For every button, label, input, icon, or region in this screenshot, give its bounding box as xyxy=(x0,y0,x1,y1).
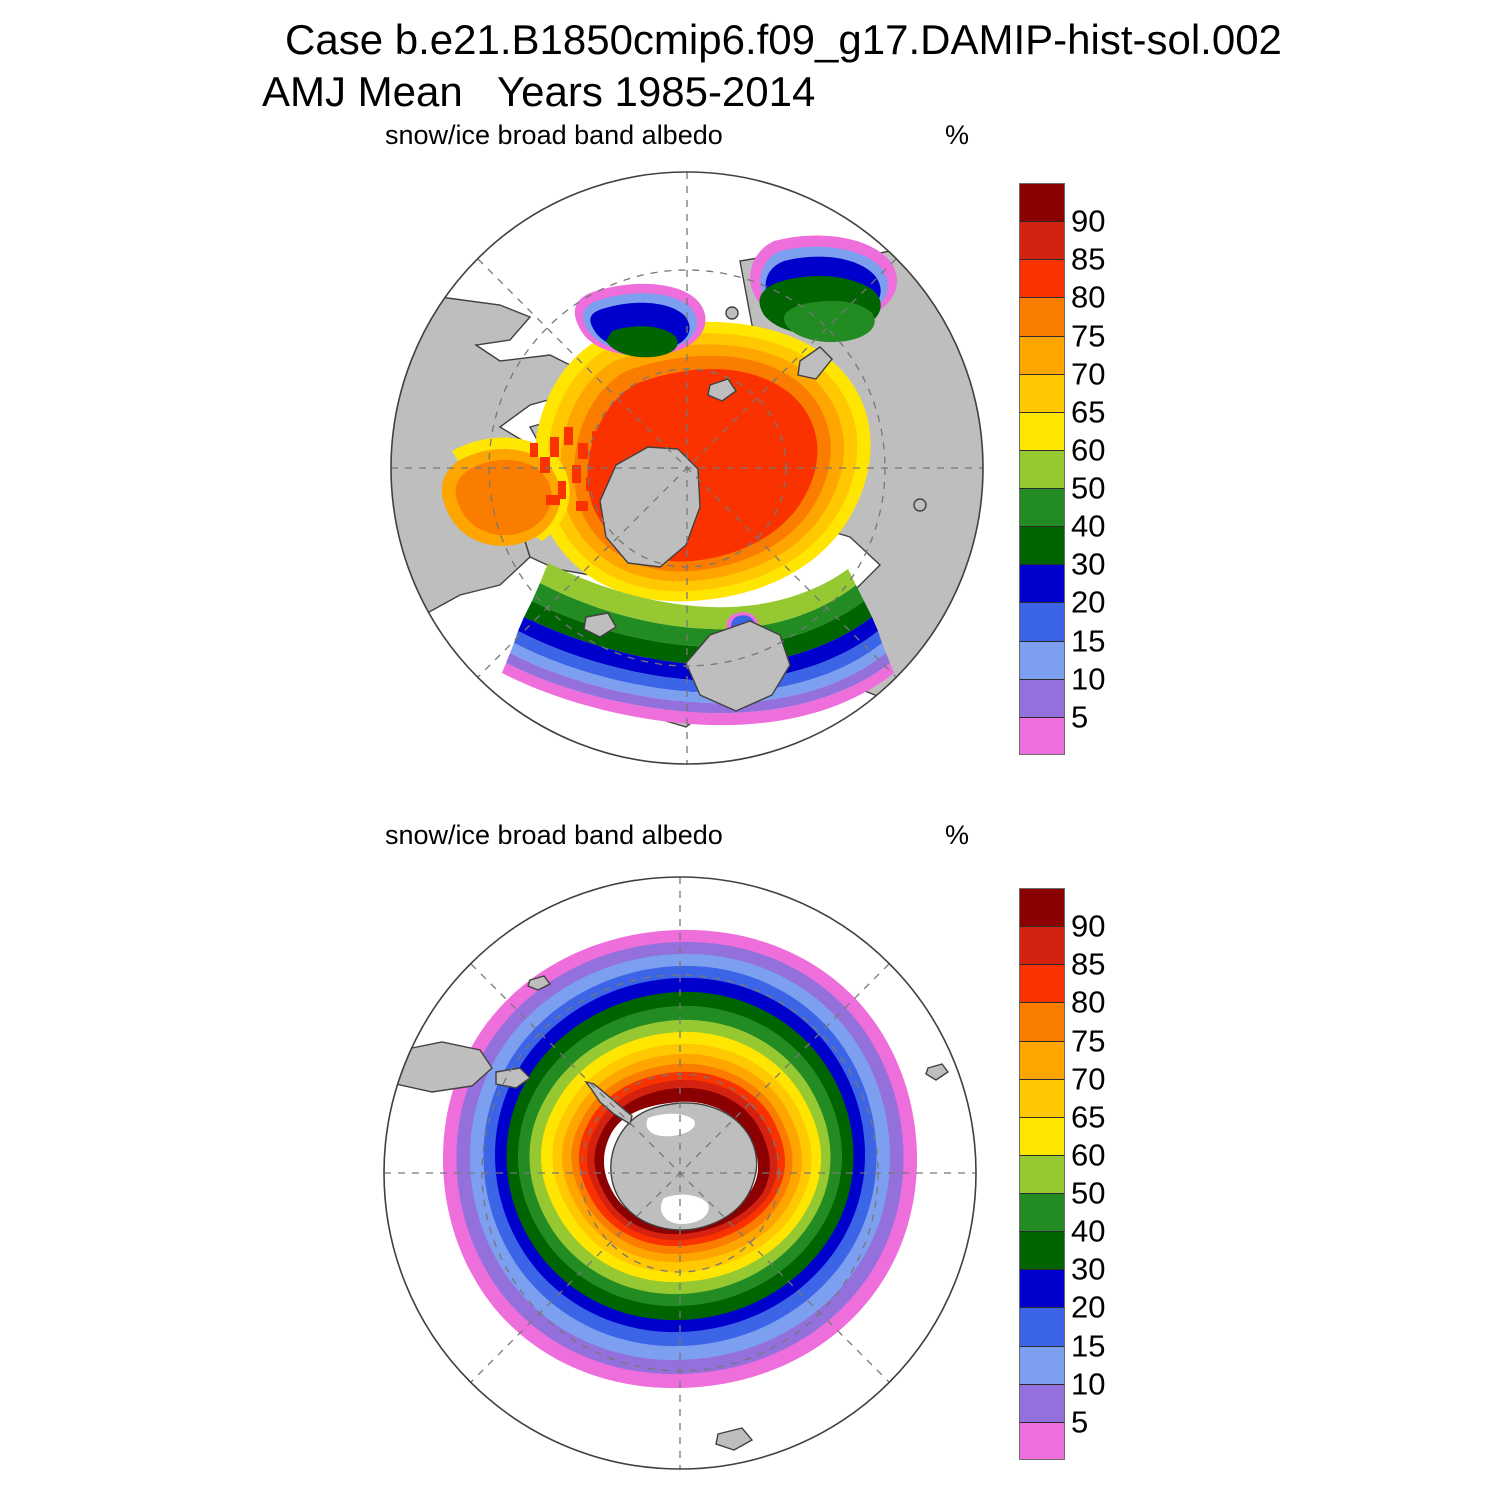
antarctic-variable-label: snow/ice broad band albedo xyxy=(385,818,723,852)
colorbar-band-3 xyxy=(1019,297,1065,335)
colorbar-tick-75: 75 xyxy=(1071,320,1105,351)
colorbar-band-1 xyxy=(1019,221,1065,259)
figure-title-block: Case b.e21.B1850cmip6.f09_g17.DAMIP-hist… xyxy=(0,14,1500,118)
colorbar-tick-15: 15 xyxy=(1071,625,1105,656)
colorbar-band-11 xyxy=(1019,1307,1065,1345)
colorbar-band-10 xyxy=(1019,564,1065,602)
colorbar-tick-10: 10 xyxy=(1071,663,1105,694)
antarctic-map-content xyxy=(384,877,976,1469)
colorbar-tick-75: 75 xyxy=(1071,1025,1105,1056)
colorbar-band-7 xyxy=(1019,1155,1065,1193)
arctic-subtitle-row: snow/ice broad band albedo % xyxy=(0,118,1500,152)
colorbar-tick-5: 5 xyxy=(1071,701,1088,732)
colorbar-band-8 xyxy=(1019,488,1065,526)
colorbar-tick-10: 10 xyxy=(1071,1368,1105,1399)
title-line-case: Case b.e21.B1850cmip6.f09_g17.DAMIP-hist… xyxy=(0,14,1500,66)
arctic-colorbar[interactable]: 908580757065605040302015105 xyxy=(1019,183,1065,755)
title-line-period: AMJ Mean Years 1985-2014 xyxy=(0,66,1500,118)
colorbar-tick-40: 40 xyxy=(1071,1216,1105,1247)
figure-page: Case b.e21.B1850cmip6.f09_g17.DAMIP-hist… xyxy=(0,0,1500,1500)
colorbar-band-4 xyxy=(1019,336,1065,374)
colorbar-tick-20: 20 xyxy=(1071,587,1105,618)
colorbar-band-11 xyxy=(1019,602,1065,640)
colorbar-band-8 xyxy=(1019,1193,1065,1231)
land-island-d xyxy=(914,499,926,511)
colorbar-tick-85: 85 xyxy=(1071,244,1105,275)
colorbar-band-9 xyxy=(1019,526,1065,564)
colorbar-band-2 xyxy=(1019,259,1065,297)
antarctic-colorbar-ticks: 908580757065605040302015105 xyxy=(1071,888,1151,1460)
colorbar-tick-20: 20 xyxy=(1071,1292,1105,1323)
colorbar-tick-60: 60 xyxy=(1071,1139,1105,1170)
antarctic-colorbar[interactable]: 908580757065605040302015105 xyxy=(1019,888,1065,1460)
colorbar-tick-80: 80 xyxy=(1071,987,1105,1018)
arctic-colorbar-ticks: 908580757065605040302015105 xyxy=(1071,183,1151,755)
colorbar-tick-50: 50 xyxy=(1071,1178,1105,1209)
colorbar-tick-80: 80 xyxy=(1071,282,1105,313)
colorbar-tick-90: 90 xyxy=(1071,911,1105,942)
colorbar-band-10 xyxy=(1019,1269,1065,1307)
colorbar-band-5 xyxy=(1019,1079,1065,1117)
colorbar-band-5 xyxy=(1019,374,1065,412)
colorbar-tick-65: 65 xyxy=(1071,1101,1105,1132)
colorbar-band-7 xyxy=(1019,450,1065,488)
colorbar-tick-85: 85 xyxy=(1071,949,1105,980)
colorbar-band-13 xyxy=(1019,679,1065,717)
colorbar-band-14 xyxy=(1019,1422,1065,1460)
land-island-c xyxy=(726,307,738,319)
antarctic-colorbar-bands xyxy=(1019,888,1065,1460)
colorbar-tick-70: 70 xyxy=(1071,1063,1105,1094)
colorbar-tick-40: 40 xyxy=(1071,511,1105,542)
colorbar-band-12 xyxy=(1019,1346,1065,1384)
colorbar-band-1 xyxy=(1019,926,1065,964)
colorbar-tick-30: 30 xyxy=(1071,549,1105,580)
arctic-colorbar-bands xyxy=(1019,183,1065,755)
arctic-map-panel xyxy=(380,165,1000,785)
colorbar-tick-5: 5 xyxy=(1071,1406,1088,1437)
arctic-units-label: % xyxy=(945,118,969,152)
colorbar-tick-90: 90 xyxy=(1071,206,1105,237)
colorbar-band-6 xyxy=(1019,412,1065,450)
colorbar-tick-50: 50 xyxy=(1071,473,1105,504)
colorbar-band-6 xyxy=(1019,1117,1065,1155)
colorbar-tick-30: 30 xyxy=(1071,1254,1105,1285)
colorbar-band-3 xyxy=(1019,1002,1065,1040)
colorbar-tick-15: 15 xyxy=(1071,1330,1105,1361)
antarctic-polar-stereographic-map xyxy=(380,872,1000,1492)
colorbar-band-13 xyxy=(1019,1384,1065,1422)
colorbar-band-9 xyxy=(1019,1231,1065,1269)
colorbar-band-2 xyxy=(1019,964,1065,1002)
antarctic-subtitle-row: snow/ice broad band albedo % xyxy=(0,818,1500,852)
colorbar-tick-70: 70 xyxy=(1071,358,1105,389)
antarctic-units-label: % xyxy=(945,818,969,852)
colorbar-band-14 xyxy=(1019,717,1065,755)
antarctic-map-panel xyxy=(380,872,1000,1492)
colorbar-tick-60: 60 xyxy=(1071,434,1105,465)
colorbar-band-0 xyxy=(1019,183,1065,221)
colorbar-tick-65: 65 xyxy=(1071,396,1105,427)
arctic-variable-label: snow/ice broad band albedo xyxy=(385,118,723,152)
colorbar-band-12 xyxy=(1019,641,1065,679)
arctic-polar-stereographic-map xyxy=(380,165,1000,785)
colorbar-band-0 xyxy=(1019,888,1065,926)
colorbar-band-4 xyxy=(1019,1041,1065,1079)
